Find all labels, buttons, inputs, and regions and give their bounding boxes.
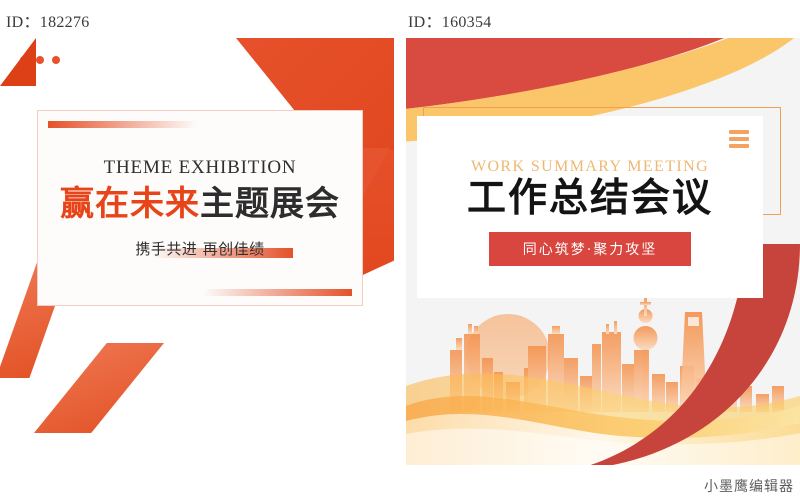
dot-grid-decoration bbox=[80, 61, 142, 90]
left-subtitle-text: 携手共进 再创佳绩 bbox=[135, 238, 264, 259]
corner-triangle-decoration bbox=[0, 38, 36, 86]
hamburger-icon[interactable] bbox=[729, 130, 749, 148]
right-main-title: 工作总结会议 bbox=[467, 178, 713, 220]
left-eyebrow-text: THEME EXHIBITION bbox=[104, 157, 297, 179]
left-main-title: 赢在未来主题展会 bbox=[60, 187, 340, 223]
grid-dot-icon bbox=[113, 61, 120, 68]
left-title-card: THEME EXHIBITION 赢在未来主题展会 携手共进 再创佳绩 bbox=[37, 110, 363, 306]
dot-icon bbox=[52, 56, 60, 64]
grid-dot-icon bbox=[91, 83, 98, 90]
grid-dot-icon bbox=[80, 72, 87, 79]
right-eyebrow-text: WORK SUMMARY MEETING bbox=[471, 158, 709, 176]
grid-dot-icon bbox=[124, 61, 131, 68]
left-slide-thumbnail[interactable]: THEME EXHIBITION 赢在未来主题展会 携手共进 再创佳绩 bbox=[0, 38, 394, 465]
right-slide-id-label: ID：160354 bbox=[408, 8, 492, 32]
grid-dot-icon bbox=[80, 83, 87, 90]
dot-icon bbox=[36, 56, 44, 64]
left-title-accent-part: 赢在未来 bbox=[60, 184, 200, 224]
page-root: ID：182276 ID：160354 THEME EXHIBITION bbox=[0, 0, 800, 502]
grid-dot-icon bbox=[91, 72, 98, 79]
grid-dot-icon bbox=[124, 72, 131, 79]
grid-dot-icon bbox=[135, 61, 142, 68]
grid-dot-icon bbox=[124, 83, 131, 90]
grid-dot-icon bbox=[135, 72, 142, 79]
grid-dot-icon bbox=[102, 72, 109, 79]
left-subtitle-wrap: 携手共进 再创佳绩 bbox=[133, 238, 266, 259]
right-slide-thumbnail[interactable]: WORK SUMMARY MEETING 工作总结会议 同心筑梦·聚力攻坚 bbox=[406, 38, 800, 465]
right-slogan-banner: 同心筑梦·聚力攻坚 bbox=[489, 232, 691, 266]
grid-dot-icon bbox=[135, 83, 142, 90]
grid-dot-icon bbox=[102, 61, 109, 68]
left-title-dark-part: 主题展会 bbox=[200, 184, 340, 224]
grid-dot-icon bbox=[80, 61, 87, 68]
right-title-panel: WORK SUMMARY MEETING 工作总结会议 同心筑梦·聚力攻坚 bbox=[417, 116, 763, 298]
left-slide-id-label: ID：182276 bbox=[6, 8, 90, 32]
grid-dot-icon bbox=[113, 72, 120, 79]
grid-dot-icon bbox=[113, 83, 120, 90]
grid-dot-icon bbox=[91, 61, 98, 68]
grid-dot-icon bbox=[102, 83, 109, 90]
diagonal-stripe-decoration bbox=[34, 343, 164, 433]
watermark-label: 小墨鹰编辑器 bbox=[704, 476, 794, 496]
